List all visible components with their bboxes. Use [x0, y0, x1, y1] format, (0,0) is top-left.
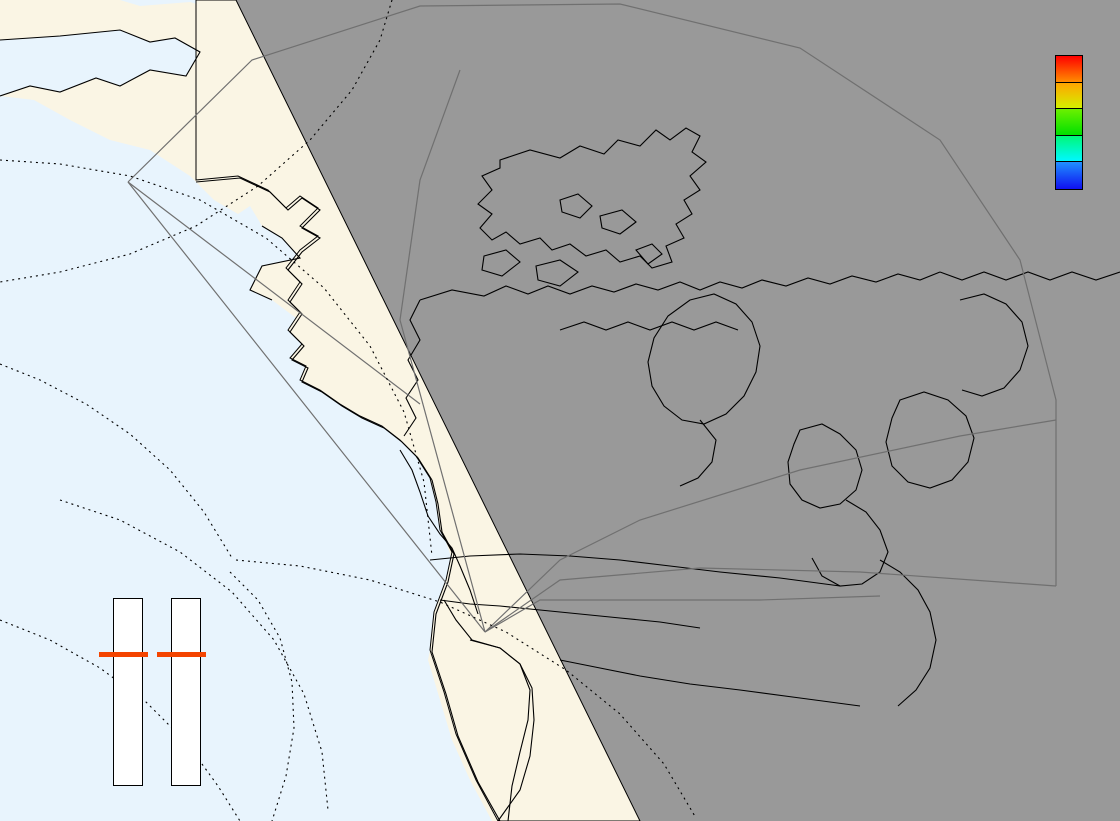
- colorbar-segment-100-200: [1056, 136, 1082, 163]
- spectral-width-colorbar: [1055, 55, 1083, 190]
- frequency-marker-cvw: [99, 652, 148, 657]
- map-canvas: [0, 0, 1120, 821]
- frequency-marker-cve: [157, 652, 206, 657]
- superdarn-map-view: [0, 0, 1120, 821]
- colorbar-segment-200-300: [1056, 109, 1082, 136]
- frequency-bar-cve: [171, 598, 201, 786]
- colorbar-segment-300-400: [1056, 83, 1082, 110]
- frequency-bar-cvw: [113, 598, 143, 786]
- colorbar-segment-400-500: [1056, 56, 1082, 83]
- colorbar-segment-0-100: [1056, 162, 1082, 189]
- colorbar-tick-labels: [1000, 41, 1050, 204]
